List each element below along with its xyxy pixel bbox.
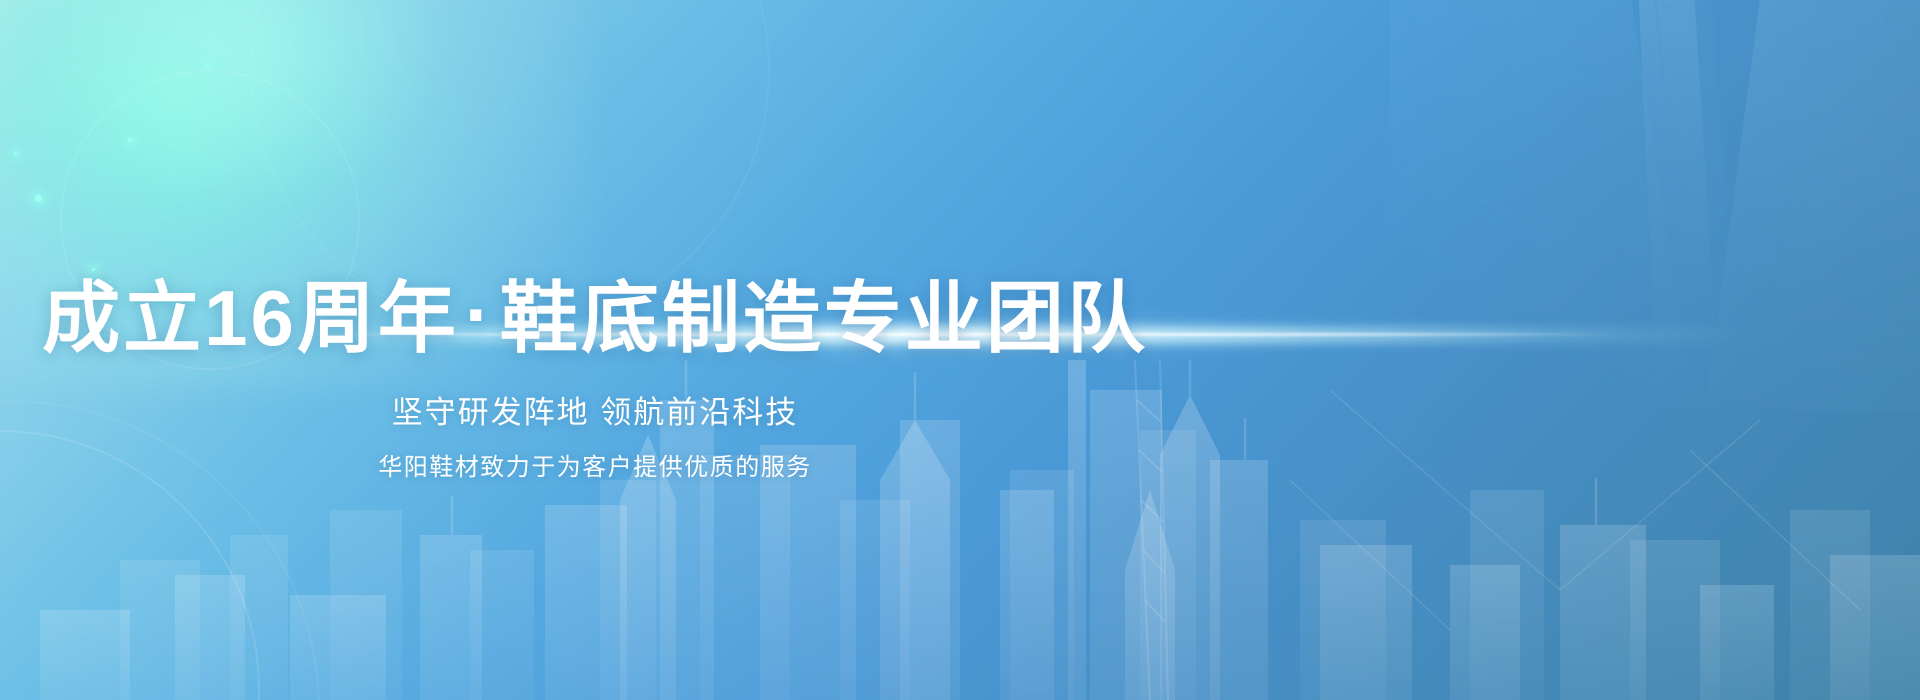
particle-dot-icon [128,138,132,142]
decorative-arc-icon [250,0,770,330]
light-beam-hotspot-icon [640,318,1300,352]
decorative-arc-icon [0,430,260,700]
banner-subtitle: 坚守研发阵地 领航前沿科技 [392,397,799,428]
particle-dot-icon [35,195,42,202]
top-left-inner-glow-icon [30,0,450,200]
skyscraper-facade-photo [1390,0,1920,410]
city-skyline-silhouette [0,360,1920,700]
light-beam-core-icon [300,333,1620,336]
horizontal-light-beam-icon [170,327,1750,343]
decorative-arc-icon [0,400,320,700]
banner-headline: 成立16周年·鞋底制造专业团队 [42,279,1148,357]
banner-tagline: 华阳鞋材致力于为客户提供优质的服务 [378,456,812,480]
headline-part-2: 鞋底制造专业团队 [500,274,1148,362]
headline-separator: · [459,275,500,353]
particle-dot-icon [92,268,95,271]
top-left-teal-glow-icon [0,0,590,390]
particle-dot-icon [14,152,17,155]
particle-dot-icon [206,64,209,67]
banner-content: 成立16周年·鞋底制造专业团队 坚守研发阵地 领航前沿科技 华阳鞋材致力于为客户… [0,0,1190,700]
headline-part-1: 成立16周年 [42,274,459,362]
hero-banner: 成立16周年·鞋底制造专业团队 坚守研发阵地 领航前沿科技 华阳鞋材致力于为客户… [0,0,1920,700]
decorative-arc-icon [60,70,360,370]
